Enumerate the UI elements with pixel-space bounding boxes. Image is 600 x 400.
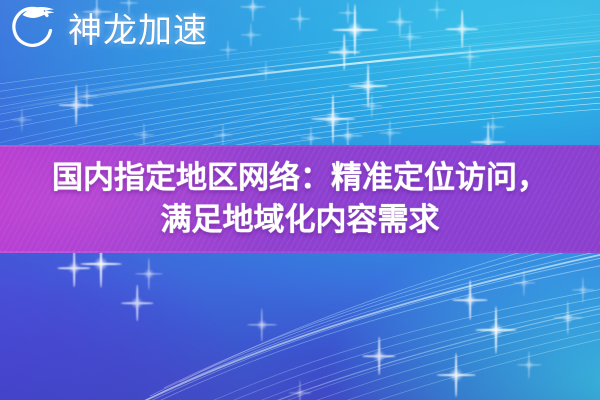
- brand-logo[interactable]: 神龙加速: [6, 3, 208, 57]
- headline-line-1: 国内指定地区网络：精准定位访问，: [52, 158, 548, 198]
- dragon-ring-icon: [6, 3, 62, 57]
- headline-text-group: 国内指定地区网络：精准定位访问， 满足地域化内容需求: [0, 145, 600, 253]
- headline-line-2: 满足地域化内容需求: [161, 200, 440, 240]
- brand-name: 神龙加速: [68, 14, 208, 48]
- promo-banner: 国内指定地区网络：精准定位访问， 满足地域化内容需求 神龙加速: [0, 0, 600, 400]
